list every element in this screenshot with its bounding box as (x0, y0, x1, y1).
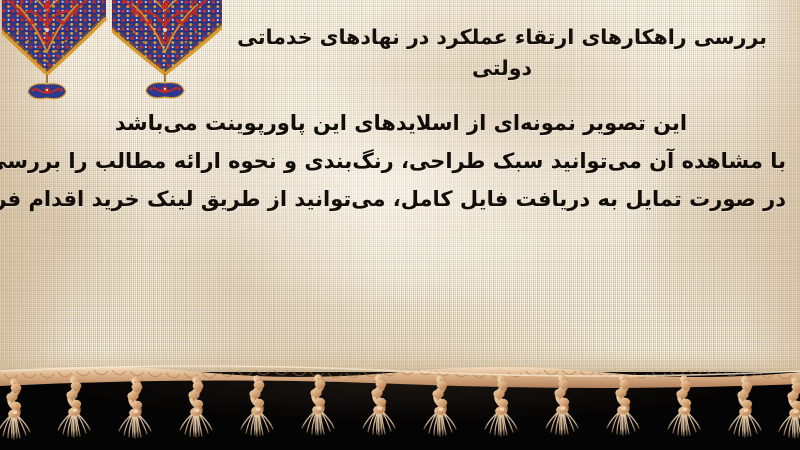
knotted-tassel-fringe (0, 358, 800, 450)
presentation-slide: بررسی راهکارهای ارتقاء عملکرد در نهادهای… (0, 0, 800, 450)
slide-title: بررسی راهکارهای ارتقاء عملکرد در نهادهای… (222, 22, 782, 84)
persian-medallion-ornament-right (112, 0, 222, 104)
body-line-1: این تصویر نمونه‌ای از اسلایدهای این پاور… (16, 104, 786, 142)
body-line-3: در صورت تمایل به دریافت فایل کامل، می‌تو… (16, 180, 786, 218)
persian-medallion-ornament-left (2, 0, 110, 104)
slide-body-text: این تصویر نمونه‌ای از اسلایدهای این پاور… (16, 104, 786, 218)
body-line-2: با مشاهده آن می‌توانید سبک طراحی، رنگ‌بن… (16, 142, 786, 180)
